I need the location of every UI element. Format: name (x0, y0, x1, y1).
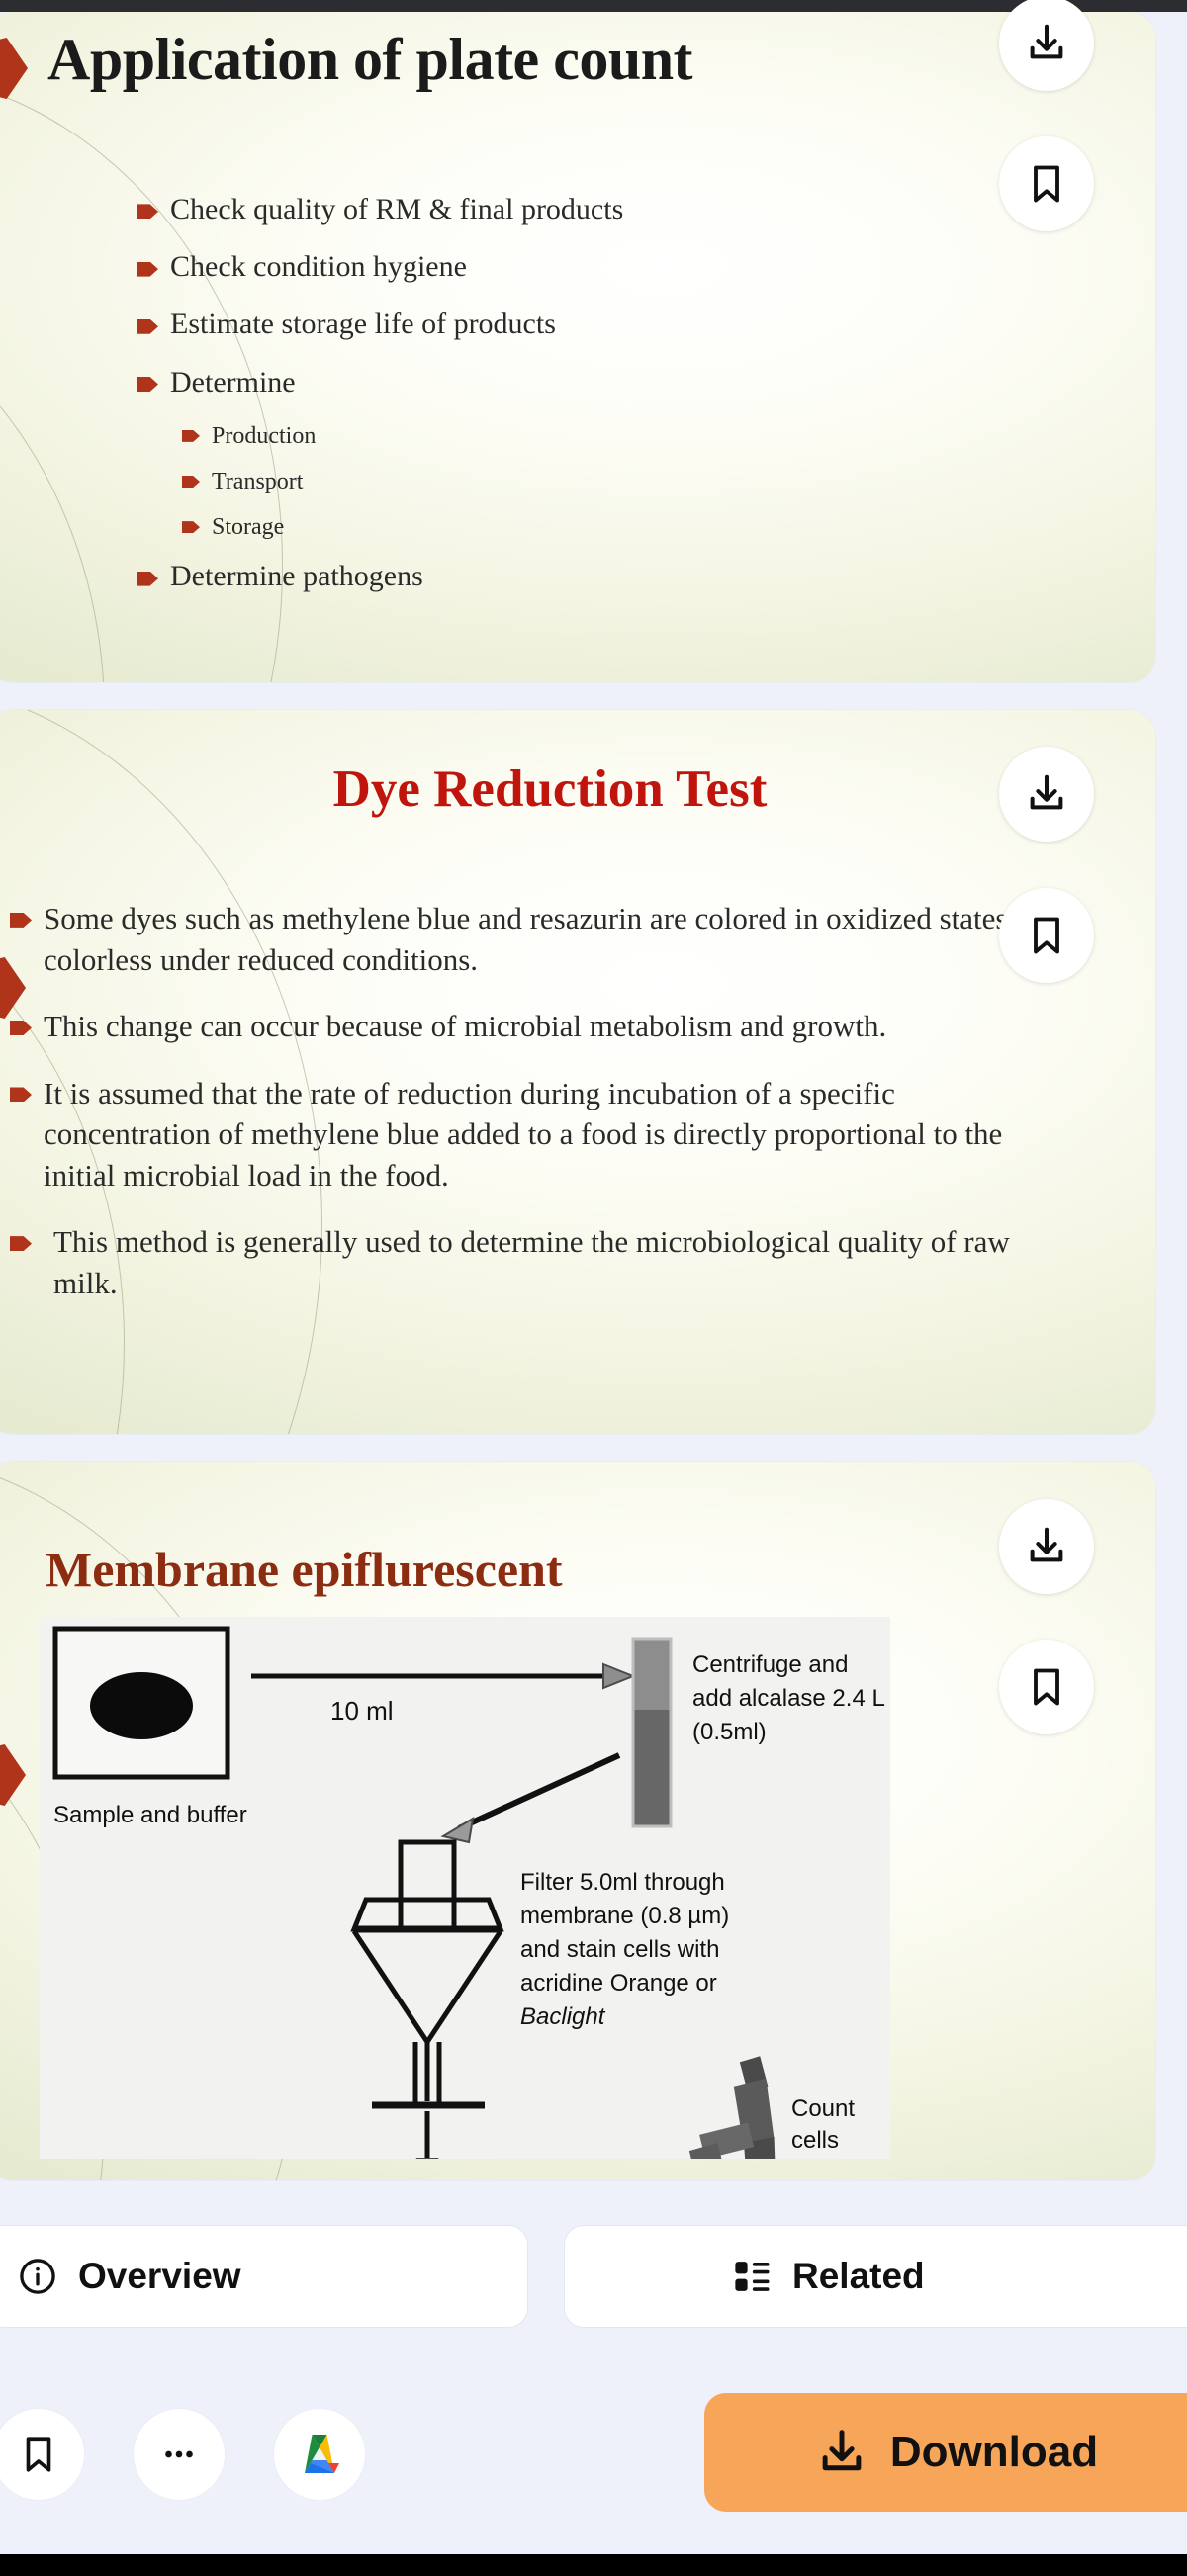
document-viewer-page: Application of plate count Check quality… (0, 0, 1187, 2576)
bookmark-icon (1025, 914, 1068, 957)
microscope-illustration (665, 2056, 798, 2159)
diagram-label-filter-5: Baclight (520, 2003, 606, 2030)
diagram-label-count-1: Count (791, 2095, 855, 2122)
bookmark-icon (1025, 162, 1068, 206)
bullet-sub-item: Production (182, 420, 1027, 452)
slide-card-3[interactable]: Membrane epiflurescent Sample and buffer… (0, 1462, 1155, 2180)
slide-1-bookmark-button[interactable] (999, 136, 1094, 231)
membrane-epifluorescence-diagram: Sample and buffer 10 ml Centrifuge and a… (40, 1617, 890, 2159)
navigation-bar (0, 2554, 1187, 2576)
diagram-label-filter-1: Filter 5.0ml through (520, 1869, 725, 1896)
diagram-label-centrifuge-2: add alcalase 2.4 L (692, 1685, 885, 1712)
slide-title: Application of plate count (47, 26, 692, 94)
bookmark-icon (1025, 1665, 1068, 1709)
slide-card-2[interactable]: Dye Reduction Test Some dyes such as met… (0, 710, 1155, 1434)
bullet-item: It is assumed that the rate of reduction… (10, 1073, 1068, 1197)
diagram-label-filter-2: membrane (0.8 µm) (520, 1903, 729, 1929)
bullet-item: This change can occur because of microbi… (10, 1006, 1068, 1047)
info-circle-icon (17, 2256, 58, 2297)
bullet-item: Check condition hygiene (137, 247, 1027, 287)
slide-card-1[interactable]: Application of plate count Check quality… (0, 12, 1155, 682)
status-bar (0, 0, 1187, 12)
list-blocks-icon (731, 2256, 773, 2297)
tab-overview[interactable]: Overview (0, 2225, 528, 2328)
bullet-sub-item: Storage (182, 511, 1027, 543)
download-icon (1024, 21, 1069, 66)
bullet-item: Estimate storage life of products (137, 305, 1027, 344)
bookmark-icon (18, 2434, 59, 2475)
slide-2-bookmark-button[interactable] (999, 888, 1094, 983)
download-icon (1024, 771, 1069, 817)
google-drive-icon (296, 2433, 343, 2476)
diagram-label-centrifuge-3: (0.5ml) (692, 1719, 767, 1745)
download-icon (815, 2426, 868, 2479)
diagram-label-centrifuge-1: Centrifuge and (692, 1651, 848, 1678)
slide-bullet-marker (0, 1744, 26, 1806)
slide-title: Dye Reduction Test (0, 759, 1114, 819)
bullet-item: Determine (137, 363, 1027, 402)
download-icon (1024, 1524, 1069, 1569)
bullet-item: Determine pathogens (137, 557, 1027, 596)
tab-overview-label: Overview (78, 2256, 241, 2297)
diagram-label-sample: Sample and buffer (53, 1802, 247, 1828)
tab-related-label: Related (792, 2256, 925, 2297)
download-button[interactable]: Download (704, 2393, 1187, 2512)
slide-bullet-marker (0, 38, 28, 99)
decorative-arc (0, 269, 105, 682)
toolbar-google-drive-button[interactable] (273, 2408, 366, 2501)
slide-3-bookmark-button[interactable] (999, 1640, 1094, 1734)
tab-row: Overview Related (0, 2225, 1187, 2334)
more-horizontal-icon (158, 2434, 200, 2475)
diagram-label-count-2: cells (791, 2127, 839, 2154)
slide-3-download-button[interactable] (999, 1499, 1094, 1594)
download-button-label: Download (890, 2428, 1098, 2477)
bullet-item: Some dyes such as methylene blue and res… (10, 898, 1068, 980)
diagram-label-filter-3: and stain cells with (520, 1936, 719, 1963)
slide-bullet-list: Some dyes such as methylene blue and res… (10, 898, 1068, 1321)
slide-1-download-button[interactable] (999, 0, 1094, 91)
bullet-item: This method is generally used to determi… (10, 1221, 1068, 1303)
bullet-item: Check quality of RM & final products (137, 190, 1027, 229)
tab-related[interactable]: Related (564, 2225, 1187, 2328)
diagram-label-volume: 10 ml (330, 1696, 394, 1726)
diagram-svg: Sample and buffer 10 ml Centrifuge and a… (40, 1617, 890, 2159)
toolbar-more-button[interactable] (133, 2408, 226, 2501)
bullet-sub-item: Transport (182, 466, 1027, 497)
slide-2-download-button[interactable] (999, 747, 1094, 842)
slide-bullet-list: Check quality of RM & final products Che… (137, 190, 1027, 614)
toolbar-bookmark-button[interactable] (0, 2408, 85, 2501)
slide-title: Membrane epiflurescent (46, 1541, 563, 1598)
diagram-label-filter-4: acridine Orange or (520, 1970, 717, 1997)
